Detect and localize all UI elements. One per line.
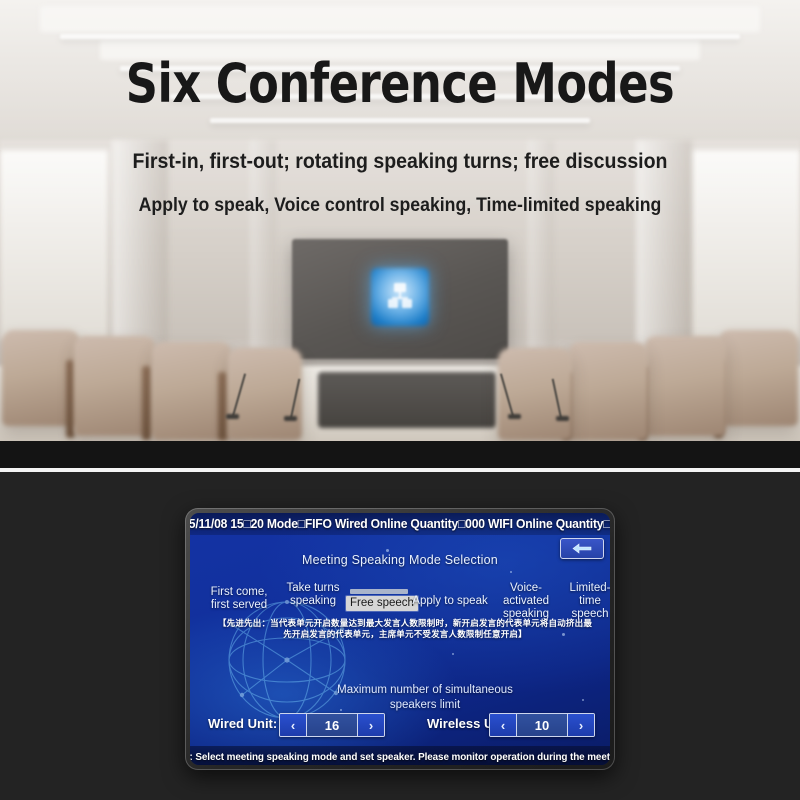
mode-option-apply-to-speak[interactable]: Apply to speak xyxy=(412,595,488,608)
wired-decrement-button[interactable]: ‹ xyxy=(280,714,306,736)
mode-option-limited-time-speech[interactable]: Limited-time speech xyxy=(564,582,610,621)
hero-subtitle-1: First-in, first-out; rotating speaking t… xyxy=(28,150,772,174)
panel-title: Meeting Speaking Mode Selection xyxy=(190,553,610,567)
mode-option-voice-activated-speaking[interactable]: Voice-activated speaking xyxy=(490,582,562,621)
wired-unit-stepper[interactable]: ‹ 16 › xyxy=(279,713,385,737)
tip-bar: 【Tip: Select meeting speaking mode and s… xyxy=(190,746,610,765)
wireless-unit-value[interactable]: 10 xyxy=(516,714,568,736)
mode-option-take-turns-speaking[interactable]: Take turns speaking xyxy=(282,582,344,608)
mode-description: 【先进先出：当代表单元开启数量达到最大发言人数限制时，新开启发言的代表单元将自动… xyxy=(216,619,594,641)
wireless-increment-button[interactable]: › xyxy=(568,714,594,736)
mode-option-first-come-first-served[interactable]: First come, first served xyxy=(200,586,278,612)
hero-banner: Six Conference Modes First-in, first-out… xyxy=(0,0,800,441)
device-screen: 2025/11/08 15□20 Mode□FIFO Wired Online … xyxy=(190,513,610,765)
status-bar: 2025/11/08 15□20 Mode□FIFO Wired Online … xyxy=(190,513,610,535)
speakers-limit-label: Maximum number of simultaneous speakers … xyxy=(315,683,535,713)
page-title: Six Conference Modes xyxy=(32,52,768,115)
control-panel-device: 2025/11/08 15□20 Mode□FIFO Wired Online … xyxy=(185,508,615,770)
wired-unit-value[interactable]: 16 xyxy=(306,714,358,736)
selected-mode-cap xyxy=(350,589,408,594)
wired-increment-button[interactable]: › xyxy=(358,714,384,736)
hero-subtitle-2: Apply to speak, Voice control speaking, … xyxy=(28,195,772,217)
mode-selector-row: First come, first served Take turns spea… xyxy=(198,578,610,620)
stepper-row: Wired Unit: ‹ 16 › Wireless Unit: ‹ 10 › xyxy=(190,713,610,737)
page-root: Six Conference Modes First-in, first-out… xyxy=(0,0,800,800)
mode-option-free-speech[interactable]: Free speech xyxy=(346,596,418,611)
hero-text-block: Six Conference Modes First-in, first-out… xyxy=(0,0,800,441)
tip-bar-text: 【Tip: Select meeting speaking mode and s… xyxy=(190,748,610,763)
status-bar-text: 2025/11/08 15□20 Mode□FIFO Wired Online … xyxy=(190,517,610,531)
black-band xyxy=(0,441,800,468)
wireless-decrement-button[interactable]: ‹ xyxy=(490,714,516,736)
wireless-unit-stepper[interactable]: ‹ 10 › xyxy=(489,713,595,737)
wired-unit-label: Wired Unit: xyxy=(208,716,277,731)
